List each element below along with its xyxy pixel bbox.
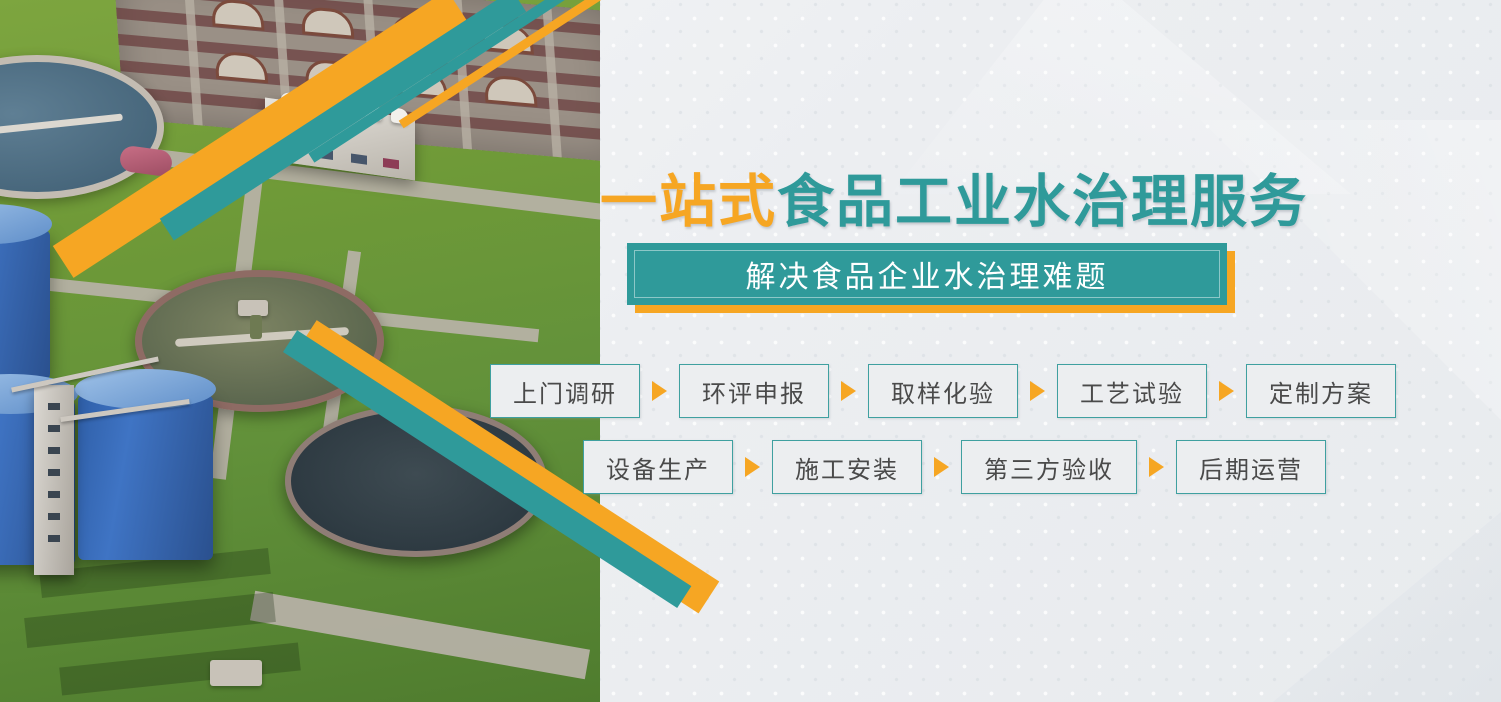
banner-content: 一站式食品工业水治理服务 解决食品企业水治理难题 上门调研 环评申报 取样化验 …	[0, 0, 1501, 702]
page-title: 一站式食品工业水治理服务	[600, 156, 1308, 238]
process-step-shigong-anzhuang[interactable]: 施工安装	[772, 440, 922, 494]
process-step-disanfang-yanshou[interactable]: 第三方验收	[961, 440, 1137, 494]
process-step-gongyi-shiyan[interactable]: 工艺试验	[1057, 364, 1207, 418]
subtitle-text: 解决食品企业水治理难题	[746, 252, 1109, 296]
subtitle-banner: 解决食品企业水治理难题	[627, 243, 1227, 305]
process-steps: 上门调研 环评申报 取样化验 工艺试验 定制方案 设备生产 施工安装 第三方验收…	[490, 364, 1420, 494]
triangle-right-icon	[1219, 381, 1234, 401]
triangle-right-icon	[841, 381, 856, 401]
process-step-huanping-shenbao[interactable]: 环评申报	[679, 364, 829, 418]
process-step-houqi-yunying[interactable]: 后期运营	[1176, 440, 1326, 494]
promo-banner: 一站式食品工业水治理服务 解决食品企业水治理难题 上门调研 环评申报 取样化验 …	[0, 0, 1501, 702]
process-steps-row-2: 设备生产 施工安装 第三方验收 后期运营	[583, 440, 1420, 494]
triangle-right-icon	[1030, 381, 1045, 401]
subtitle-box: 解决食品企业水治理难题	[627, 243, 1227, 305]
triangle-right-icon	[1149, 457, 1164, 477]
process-step-dingzhi-fangan[interactable]: 定制方案	[1246, 364, 1396, 418]
process-step-shebei-shengchan[interactable]: 设备生产	[583, 440, 733, 494]
process-step-shangmen-diaoyan[interactable]: 上门调研	[490, 364, 640, 418]
triangle-right-icon	[934, 457, 949, 477]
process-steps-row-1: 上门调研 环评申报 取样化验 工艺试验 定制方案	[490, 364, 1420, 418]
triangle-right-icon	[745, 457, 760, 477]
triangle-right-icon	[652, 381, 667, 401]
headline-main: 食品工业水治理服务	[777, 170, 1308, 234]
headline-prefix: 一站式	[600, 170, 777, 234]
process-step-quyang-huayan[interactable]: 取样化验	[868, 364, 1018, 418]
